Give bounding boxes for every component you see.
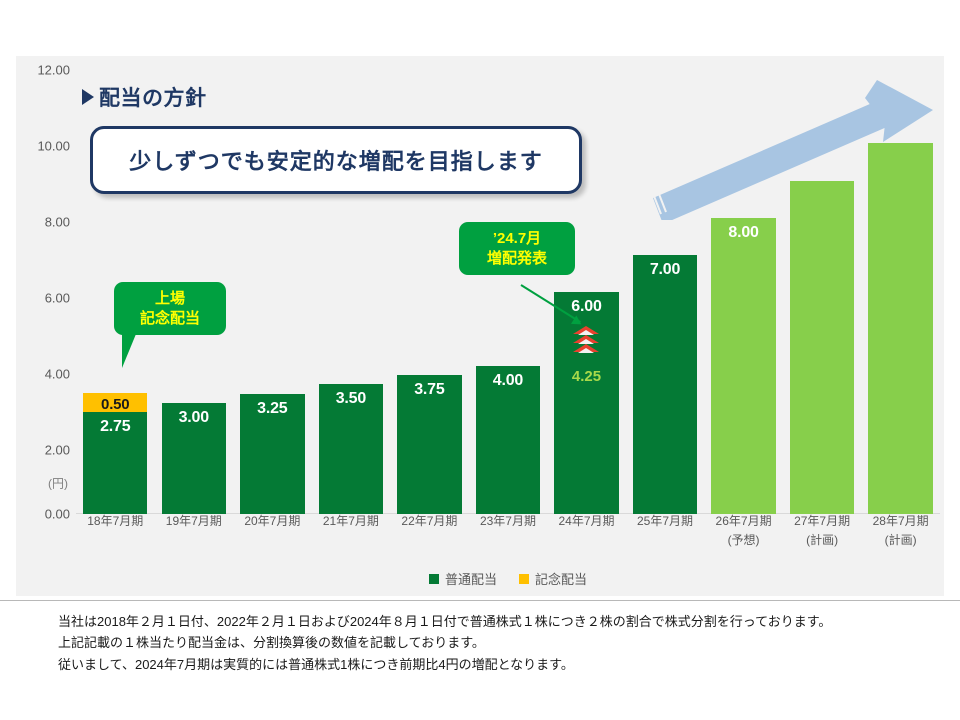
legend-label: 記念配当	[535, 569, 587, 588]
x-label-2023: 23年7月期	[469, 512, 548, 531]
x-axis-labels: 18年7月期 19年7月期 20年7月期 21年7月期 22年7月期 23年7月…	[76, 512, 940, 556]
y-tick-10: 10.00	[37, 139, 70, 154]
bar-column-2024[interactable]: 6.00 4.25	[547, 292, 626, 514]
callout-line-1: ’24.7月	[471, 229, 563, 249]
y-axis-unit-label: (円)	[48, 475, 68, 492]
x-label-2022: 22年7月期	[390, 512, 469, 531]
y-tick-2: 2.00	[45, 443, 70, 458]
callout-line-1: 上場	[126, 289, 214, 309]
x-label-text: 18年7月期	[87, 514, 143, 528]
x-label-text: 20年7月期	[244, 514, 300, 528]
bar-column-2022[interactable]: 3.75	[390, 375, 469, 514]
page-title: 配当の方針	[82, 82, 207, 112]
callout-listing-memorial-dividend: 上場 記念配当	[114, 282, 226, 335]
x-label-2027: 27年7月期 (計画)	[783, 512, 862, 549]
x-label-text: 19年7月期	[166, 514, 222, 528]
legend-label: 普通配当	[445, 569, 497, 588]
x-label-text: 21年7月期	[323, 514, 379, 528]
x-label-text: 23年7月期	[480, 514, 536, 528]
x-label-2025: 25年7月期	[626, 512, 705, 531]
bar-column-2020[interactable]: 3.25	[233, 394, 312, 514]
policy-message-box: 少しずつでも安定的な増配を目指します	[90, 126, 582, 194]
bar-plan-2028[interactable]	[868, 143, 932, 514]
bar-label-ordinary-2022: 3.75	[397, 381, 461, 399]
x-label-2024: 24年7月期	[547, 512, 626, 531]
bar-column-2028[interactable]	[861, 143, 940, 514]
bar-ordinary-2018[interactable]: 2.75	[83, 412, 147, 514]
x-label-text: 25年7月期	[637, 514, 693, 528]
bar-ordinary-2020[interactable]: 3.25	[240, 394, 304, 514]
bar-ordinary-2019[interactable]: 3.00	[162, 403, 226, 514]
x-label-text: 27年7月期	[794, 514, 850, 528]
bar-label-ordinary-2018: 2.75	[83, 418, 147, 436]
bar-label-ordinary-2019: 3.00	[162, 409, 226, 427]
bar-label-ordinary-2023: 4.00	[476, 372, 540, 390]
bar-ordinary-2021[interactable]: 3.50	[319, 384, 383, 514]
x-label-2028: 28年7月期 (計画)	[861, 512, 940, 549]
bar-column-2018[interactable]: 2.75 0.50	[76, 394, 155, 514]
footnote-line-2: 上記記載の１株当たり配当金は、分割換算後の数値を記載しております。	[58, 632, 960, 653]
x-label-2021: 21年7月期	[312, 512, 391, 531]
y-tick-6: 6.00	[45, 291, 70, 306]
triangle-marker-icon	[82, 89, 94, 105]
y-tick-4: 4.00	[45, 367, 70, 382]
bar-label-previous-equivalent-2024: 4.25	[554, 368, 618, 385]
bar-plan-2027[interactable]	[790, 181, 854, 514]
bar-label-ordinary-2025: 7.00	[633, 261, 697, 279]
y-axis: 12.00 10.00 8.00 6.00 4.00 2.00 (円) 0.00	[16, 56, 76, 596]
x-label-2026: 26年7月期 (予想)	[704, 512, 783, 549]
bar-ordinary-2022[interactable]: 3.75	[397, 375, 461, 514]
bar-ordinary-2023[interactable]: 4.00	[476, 366, 540, 514]
legend-swatch-icon	[429, 574, 439, 584]
bar-column-2026[interactable]: 8.00	[704, 218, 783, 514]
x-label-text: 28年7月期	[873, 514, 929, 528]
x-label-sub: (予想)	[704, 531, 783, 550]
callout-tail-icon	[122, 334, 150, 368]
x-label-2019: 19年7月期	[155, 512, 234, 531]
bar-column-2021[interactable]: 3.50	[312, 384, 391, 514]
x-label-2020: 20年7月期	[233, 512, 312, 531]
bar-column-2025[interactable]: 7.00	[626, 255, 705, 514]
page-title-text: 配当の方針	[99, 82, 207, 112]
footnote-line-3: 従いまして、2024年7月期は実質的には普通株式1株につき前期比4円の増配となり…	[58, 654, 960, 675]
increase-chevrons-icon	[554, 326, 618, 352]
x-label-sub: (計画)	[861, 531, 940, 550]
bar-forecast-2026[interactable]: 8.00	[711, 218, 775, 514]
policy-message-text: 少しずつでも安定的な増配を目指します	[129, 144, 543, 176]
x-label-text: 22年7月期	[401, 514, 457, 528]
footnotes: 当社は2018年２月１日付、2022年２月１日および2024年８月１日付で普通株…	[0, 600, 960, 675]
bar-memorial-2018[interactable]: 0.50	[83, 393, 147, 412]
bar-ordinary-2025[interactable]: 7.00	[633, 255, 697, 514]
x-label-sub: (計画)	[783, 531, 862, 550]
chart-legend: 普通配当 記念配当	[76, 569, 940, 588]
x-label-2018: 18年7月期	[76, 512, 155, 531]
y-tick-12: 12.00	[37, 63, 70, 78]
legend-swatch-icon	[519, 574, 529, 584]
x-label-text: 24年7月期	[558, 514, 614, 528]
bar-column-2019[interactable]: 3.00	[155, 403, 234, 514]
y-tick-0: 0.00	[45, 507, 70, 522]
bar-ordinary-2024[interactable]: 6.00 4.25	[554, 292, 618, 514]
bar-column-2023[interactable]: 4.00	[469, 366, 548, 514]
bar-label-ordinary-2020: 3.25	[240, 400, 304, 418]
callout-2024-dividend-increase: ’24.7月 増配発表	[459, 222, 575, 275]
y-tick-8: 8.00	[45, 215, 70, 230]
footnote-line-1: 当社は2018年２月１日付、2022年２月１日および2024年８月１日付で普通株…	[58, 611, 960, 632]
bar-label-memorial-2018: 0.50	[83, 396, 147, 413]
callout-line-2: 増配発表	[471, 249, 563, 269]
legend-item-ordinary-dividend[interactable]: 普通配当	[429, 569, 497, 588]
callout-line-2: 記念配当	[126, 309, 214, 329]
bar-label-forecast-2026: 8.00	[711, 224, 775, 242]
legend-item-memorial-dividend[interactable]: 記念配当	[519, 569, 587, 588]
x-label-text: 26年7月期	[716, 514, 772, 528]
bar-label-ordinary-2021: 3.50	[319, 390, 383, 408]
bar-column-2027[interactable]	[783, 181, 862, 514]
